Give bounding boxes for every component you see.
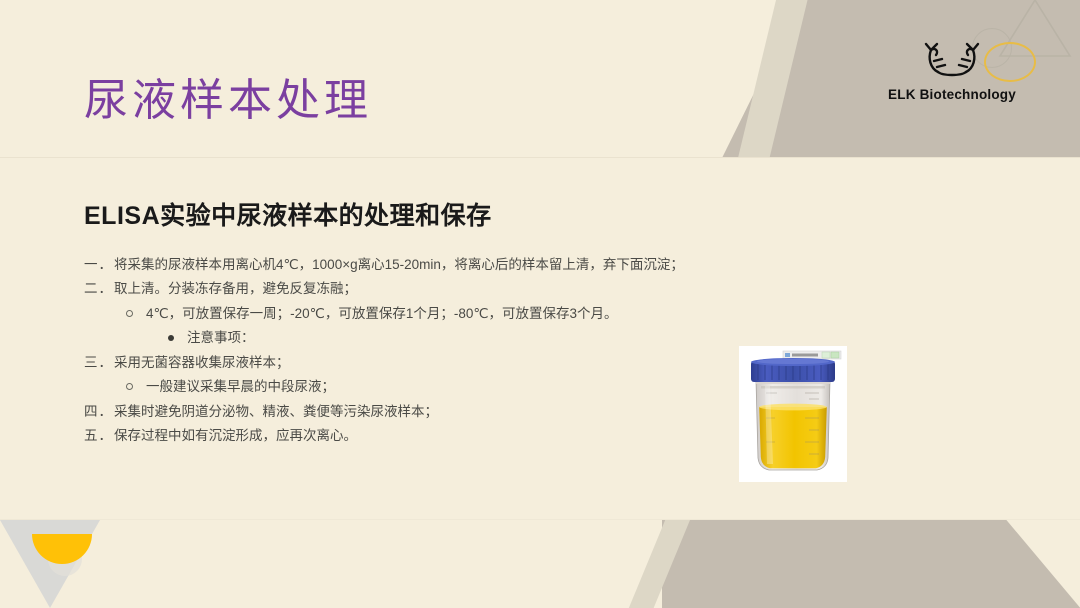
- content-heading: ELISA实验中尿液样本的处理和保存: [84, 196, 784, 232]
- top-right-thin-band: [738, 0, 808, 158]
- footer-divider-line: [0, 519, 1080, 520]
- list-marker: 四．: [84, 405, 114, 419]
- header-divider-line: [0, 157, 1080, 158]
- list-item-text: 采用无菌容器收集尿液样本；: [114, 356, 290, 370]
- brand-logo: ELK Biotechnology: [882, 34, 1022, 102]
- bottom-left-triangle-shape: [0, 520, 100, 608]
- bottom-right-thin-band: [628, 520, 690, 608]
- list-marker: 一．: [84, 258, 114, 272]
- brand-logo-text: ELK Biotechnology: [882, 87, 1022, 102]
- list-item-text: 一般建议采集早晨的中段尿液；: [146, 380, 335, 394]
- elk-antler-dna-icon: [916, 34, 988, 80]
- hollow-circle-bullet-icon: [126, 310, 133, 317]
- list-item-text: 注意事项：: [187, 331, 255, 345]
- bottom-left-gold-semicircle-shape: [32, 534, 92, 564]
- bottom-right-diagonal-band: [662, 520, 1080, 608]
- list-item: 二． 取上清。分装冻存备用，避免反复冻融；: [84, 277, 784, 302]
- bottom-left-gray-circle-shape: [48, 542, 82, 576]
- list-item: 注意事项：: [84, 326, 784, 351]
- procedure-list: 一． 将采集的尿液样本用离心机4℃，1000×g离心15-20min，将离心后的…: [84, 252, 784, 448]
- list-item-text: 取上清。分装冻存备用，避免反复冻融；: [114, 282, 357, 296]
- list-item: 三． 采用无菌容器收集尿液样本；: [84, 350, 784, 375]
- list-item-text: 将采集的尿液样本用离心机4℃，1000×g离心15-20min，将离心后的样本留…: [114, 258, 684, 272]
- list-item-text: 采集时避免阴道分泌物、精液、粪便等污染尿液样本；: [114, 405, 438, 419]
- list-marker: 三．: [84, 356, 114, 370]
- list-marker: 五．: [84, 429, 114, 443]
- list-item-text: 4℃，可放置保存一周；-20℃，可放置保存1个月；-80℃，可放置保存3个月。: [146, 307, 618, 321]
- list-item-text: 保存过程中如有沉淀形成，应再次离心。: [114, 429, 357, 443]
- list-item: 五． 保存过程中如有沉淀形成，应再次离心。: [84, 424, 784, 449]
- list-marker: 二．: [84, 282, 114, 296]
- hollow-circle-bullet-icon: [126, 383, 133, 390]
- solid-circle-bullet-icon: [168, 335, 174, 341]
- list-item: 一般建议采集早晨的中段尿液；: [84, 375, 784, 400]
- content-body: ELISA实验中尿液样本的处理和保存 一． 将采集的尿液样本用离心机4℃，100…: [84, 196, 784, 448]
- list-item: 4℃，可放置保存一周；-20℃，可放置保存1个月；-80℃，可放置保存3个月。: [84, 301, 784, 326]
- specimen-cup-illustration: [739, 346, 847, 482]
- list-item: 一． 将采集的尿液样本用离心机4℃，1000×g离心15-20min，将离心后的…: [84, 252, 784, 277]
- list-item: 四． 采集时避免阴道分泌物、精液、粪便等污染尿液样本；: [84, 399, 784, 424]
- slide-canvas: 尿液样本处理 ELK Biotechnology ELISA实验中尿: [0, 0, 1080, 608]
- urine-specimen-cup-photo: [739, 346, 847, 482]
- page-title: 尿液样本处理: [84, 64, 372, 128]
